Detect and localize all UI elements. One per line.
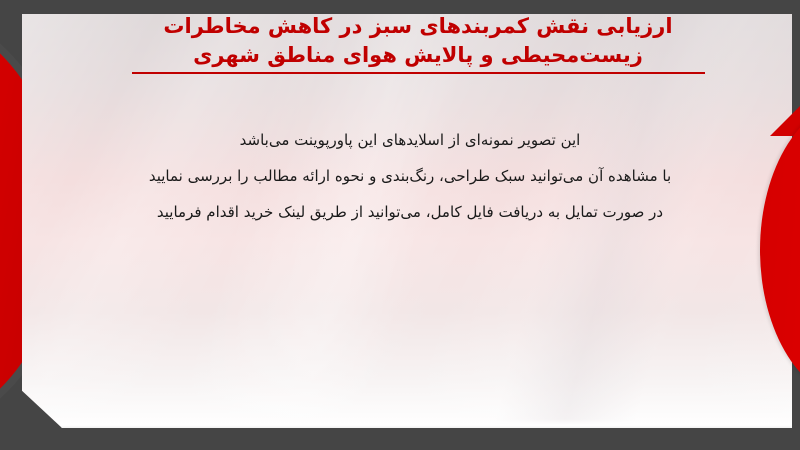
presentation-slide: ارزیابی نقش کمربندهای سبز در کاهش مخاطرا…	[0, 0, 800, 450]
slide-body-line-3: در صورت تمایل به دریافت فایل کامل، می‌تو…	[80, 194, 740, 230]
slide-body: این تصویر نمونه‌ای از اسلایدهای این پاور…	[80, 122, 740, 230]
panel-bottom-highlight	[61, 419, 793, 428]
title-underline-rule	[132, 72, 705, 74]
slide-body-line-1: این تصویر نمونه‌ای از اسلایدهای این پاور…	[80, 122, 740, 158]
slide-title-line-1: ارزیابی نقش کمربندهای سبز در کاهش مخاطرا…	[88, 12, 748, 41]
slide-body-line-2: با مشاهده آن می‌توانید سبک طراحی، رنگ‌بن…	[80, 158, 740, 194]
slide-title: ارزیابی نقش کمربندهای سبز در کاهش مخاطرا…	[88, 12, 748, 74]
slide-title-line-2: زیست‌محیطی و پالایش هوای مناطق شهری	[88, 41, 748, 70]
